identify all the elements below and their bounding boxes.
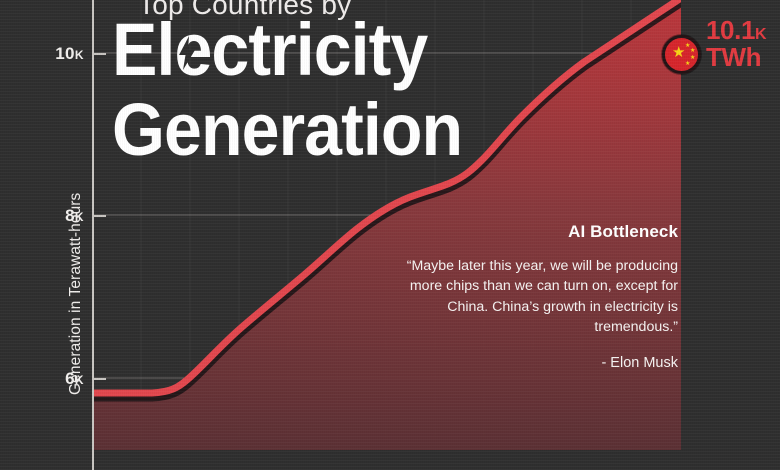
flag-star-2: ★ <box>690 48 695 54</box>
y-tick-dash-6k <box>92 378 106 380</box>
end-value-label: 10.1K TWh <box>706 17 780 70</box>
y-tick-10k: 10K <box>24 44 84 64</box>
page-title-line1: Electricity <box>112 18 427 82</box>
callout-author: - Elon Musk <box>404 355 678 371</box>
flag-star-4: ★ <box>685 61 690 67</box>
infographic-canvas: 10K 8K 6K Generation in Terawatt-hours T… <box>0 0 780 470</box>
callout-title: AI Bottleneck <box>404 222 678 242</box>
ai-bottleneck-callout: AI Bottleneck “Maybe later this year, we… <box>404 222 678 371</box>
end-value-unit: TWh <box>706 44 780 71</box>
end-value-number: 10.1K <box>706 17 780 44</box>
china-flag-icon[interactable]: ★ ★ ★ ★ ★ <box>662 35 701 74</box>
y-tick-dash-8k <box>92 215 106 217</box>
y-axis-line <box>92 0 94 470</box>
callout-quote: “Maybe later this year, we will be produ… <box>404 256 678 338</box>
y-axis-label: Generation in Terawatt-hours <box>67 95 85 395</box>
flag-star-large: ★ <box>672 45 685 60</box>
flag-star-3: ★ <box>690 55 695 61</box>
lightning-bolt-icon <box>176 36 198 70</box>
y-tick-dash-10k <box>92 53 106 55</box>
page-title-line2: Generation <box>112 98 462 162</box>
